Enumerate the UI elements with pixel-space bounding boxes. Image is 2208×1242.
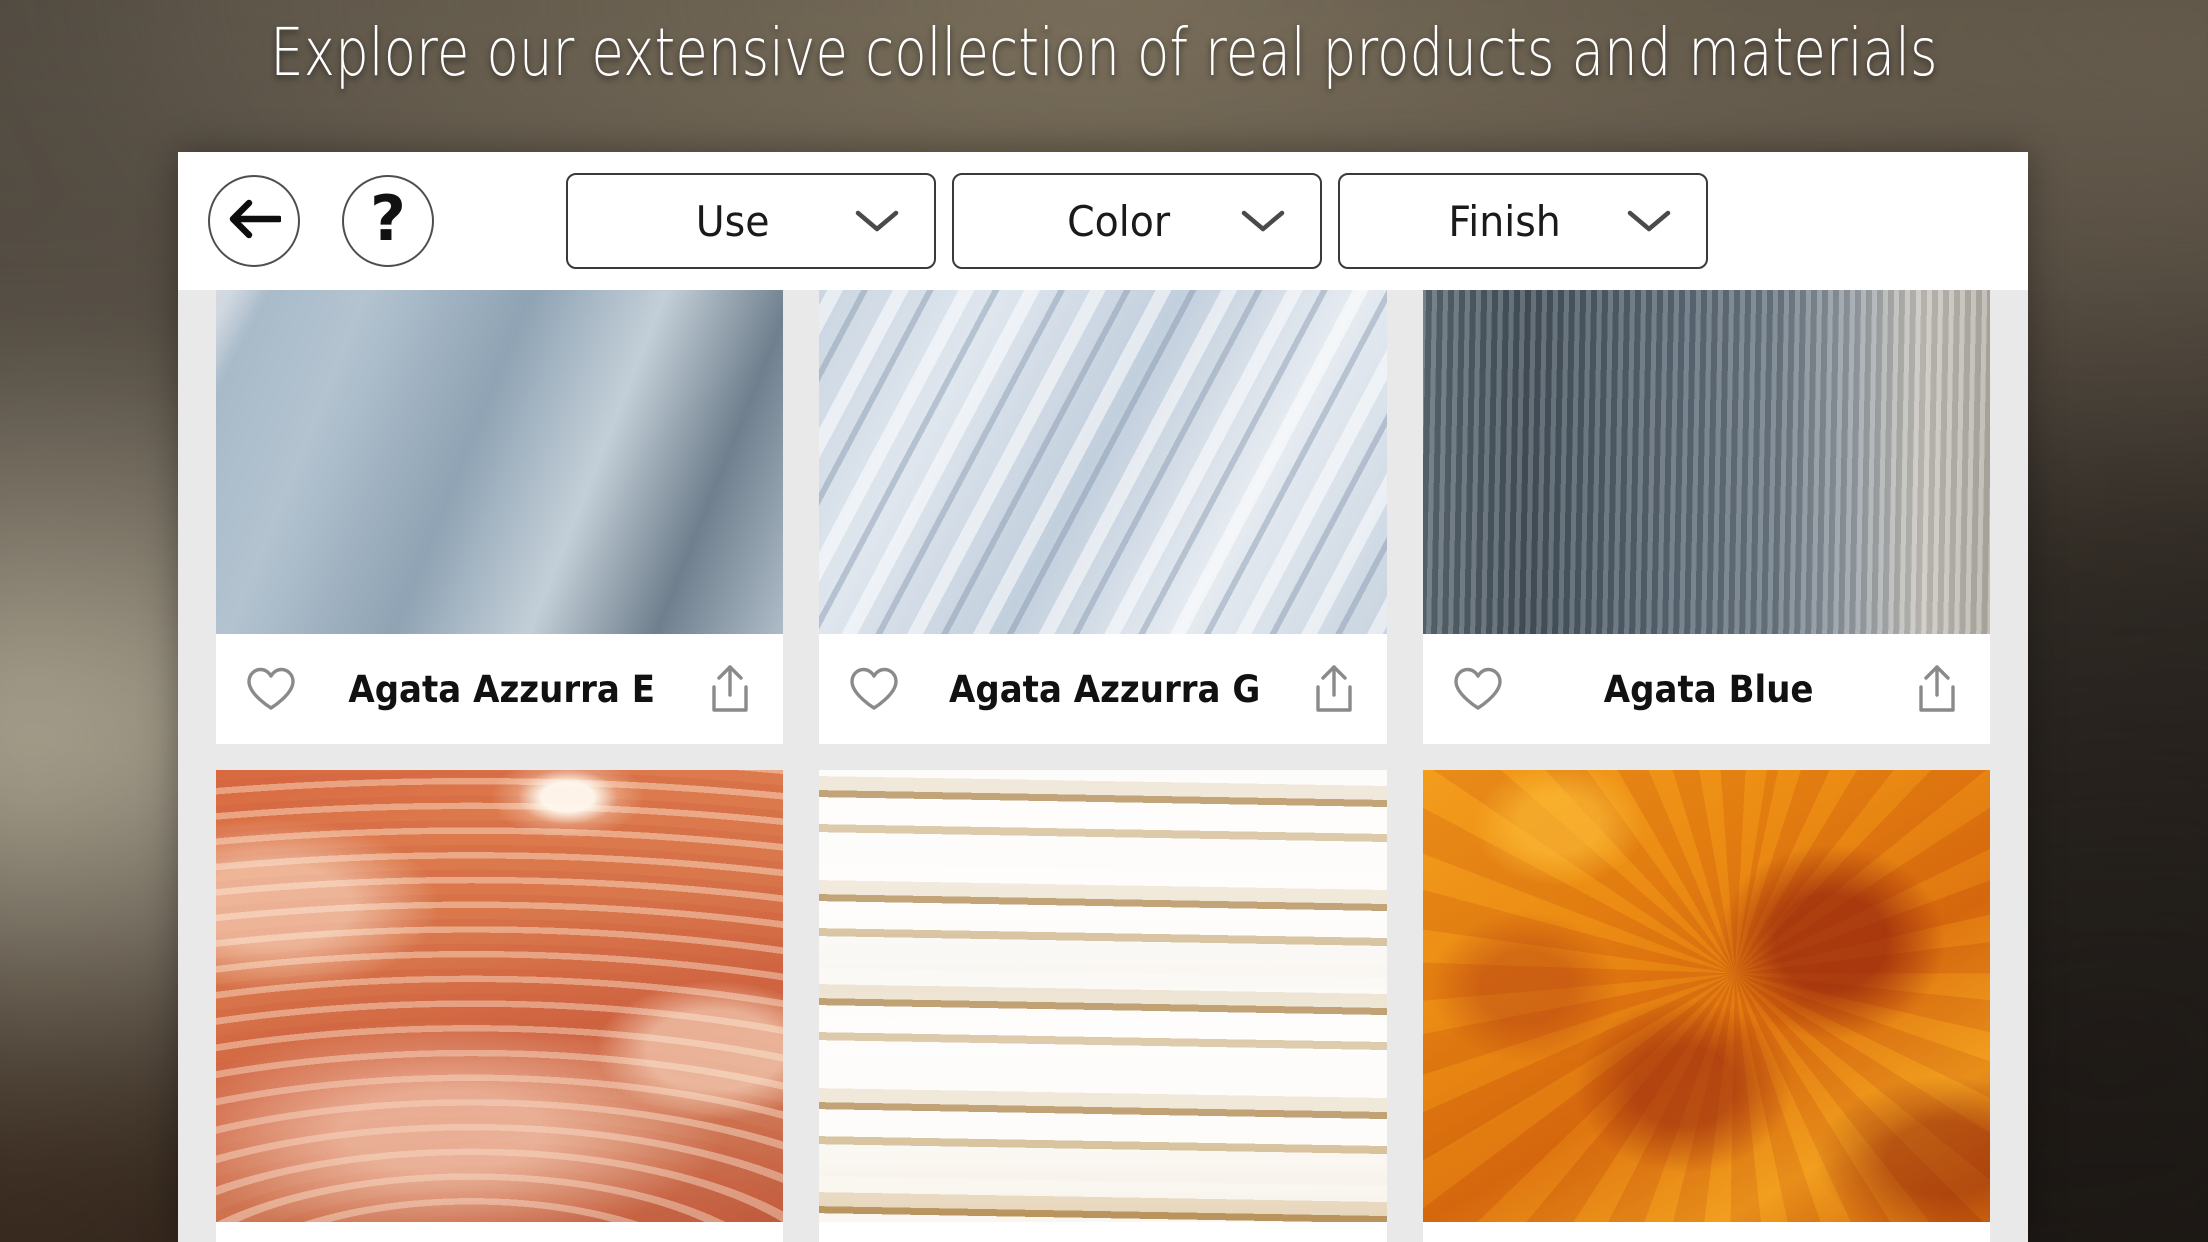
- material-thumbnail[interactable]: [1423, 770, 1990, 1222]
- back-button[interactable]: [208, 175, 300, 267]
- filter-dropdown-finish[interactable]: Finish: [1338, 173, 1708, 269]
- share-icon[interactable]: [1311, 663, 1357, 715]
- filter-dropdown-use-label: Use: [577, 197, 846, 246]
- heart-icon[interactable]: [1453, 666, 1503, 712]
- material-thumbnail[interactable]: [819, 290, 1386, 634]
- material-card-footer: Ambra: [1423, 1222, 1990, 1242]
- material-card[interactable]: Agata Corniola: [216, 770, 783, 1242]
- filter-dropdown-color-label: Color: [963, 197, 1232, 246]
- heart-icon[interactable]: [246, 666, 296, 712]
- material-thumbnail[interactable]: [216, 290, 783, 634]
- material-card[interactable]: Agata Azzurra G: [819, 290, 1386, 744]
- chevron-down-icon: [1626, 208, 1672, 234]
- toolbar: ? Use Color Finish: [178, 152, 2028, 290]
- help-button[interactable]: ?: [342, 175, 434, 267]
- material-card-footer: Agata Venata: [819, 1222, 1386, 1242]
- material-card-footer: Agata Azzurra E: [216, 634, 783, 744]
- share-icon[interactable]: [707, 663, 753, 715]
- app-panel: ? Use Color Finish: [178, 152, 2028, 1242]
- material-card[interactable]: Agata Venata: [819, 770, 1386, 1242]
- material-name: Agata Azzurra G: [916, 668, 1294, 711]
- chevron-down-icon: [1240, 208, 1286, 234]
- material-grid: Agata Azzurra EAgata Azzurra GAgata Blue…: [216, 290, 1990, 1242]
- material-name: Agata Azzurra E: [312, 668, 690, 711]
- material-thumbnail[interactable]: [819, 770, 1386, 1222]
- material-card[interactable]: Ambra: [1423, 770, 1990, 1242]
- material-card[interactable]: Agata Azzurra E: [216, 290, 783, 744]
- material-texture: [1423, 290, 1990, 634]
- material-texture: [819, 290, 1386, 634]
- material-card[interactable]: Agata Blue: [1423, 290, 1990, 744]
- question-mark-icon: ?: [370, 188, 406, 250]
- material-grid-scroll-area[interactable]: Agata Azzurra EAgata Azzurra GAgata Blue…: [178, 290, 2028, 1242]
- material-texture: [216, 290, 783, 634]
- material-card-footer: Agata Blue: [1423, 634, 1990, 744]
- material-name: Agata Blue: [1519, 668, 1897, 711]
- filter-dropdown-use[interactable]: Use: [566, 173, 936, 269]
- heart-icon[interactable]: [849, 666, 899, 712]
- filter-dropdown-finish-label: Finish: [1349, 197, 1618, 246]
- material-card-footer: Agata Corniola: [216, 1222, 783, 1242]
- material-texture: [216, 770, 783, 1222]
- filter-dropdown-color[interactable]: Color: [952, 173, 1322, 269]
- material-texture: [819, 770, 1386, 1222]
- material-thumbnail[interactable]: [216, 770, 783, 1222]
- back-arrow-icon: [227, 197, 281, 246]
- chevron-down-icon: [854, 208, 900, 234]
- filter-dropdown-group: Use Color Finish: [566, 173, 1708, 269]
- material-thumbnail[interactable]: [1423, 290, 1990, 634]
- material-texture: [1423, 770, 1990, 1222]
- share-icon[interactable]: [1914, 663, 1960, 715]
- material-card-footer: Agata Azzurra G: [819, 634, 1386, 744]
